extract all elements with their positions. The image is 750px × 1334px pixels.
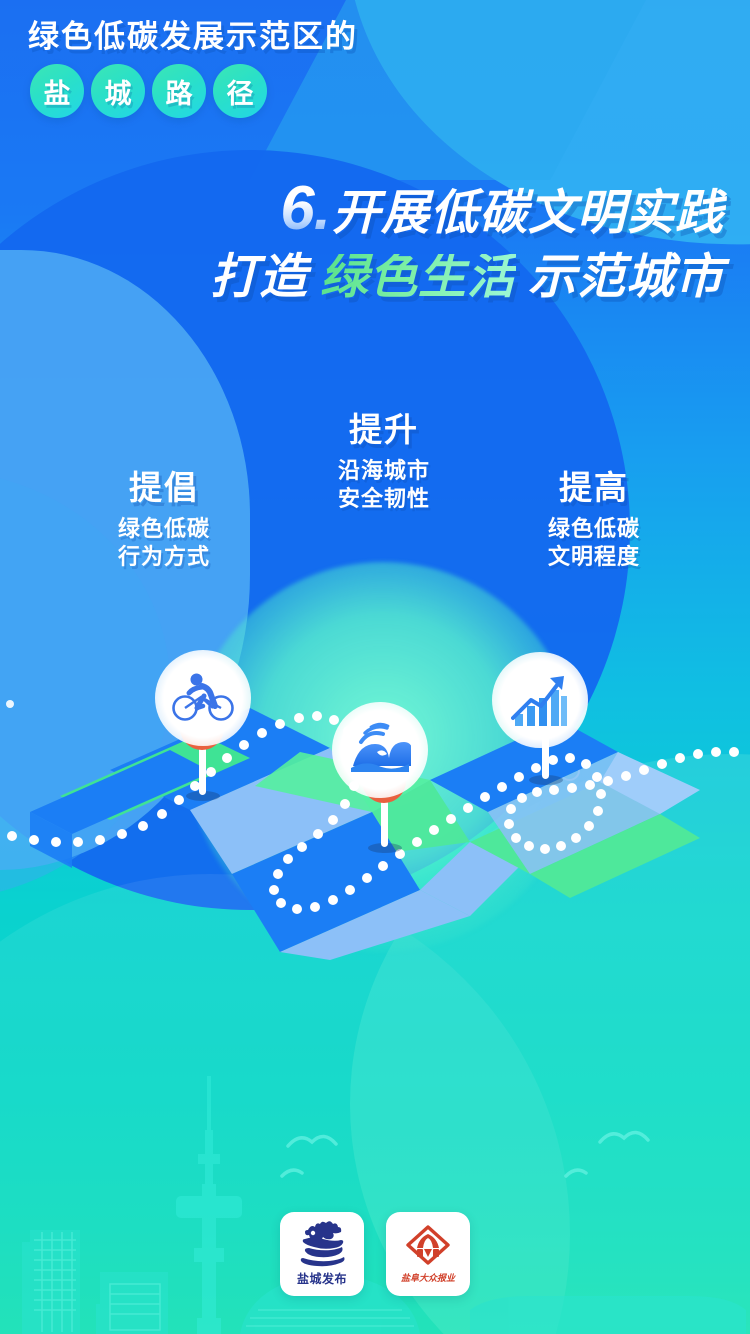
main-title-line-1: 开展低碳文明实践: [332, 190, 724, 238]
main-title-prefix: 打造: [210, 254, 308, 302]
section-number: 6.: [280, 178, 330, 240]
logo-row: 盐城发布 盐阜大众报业: [0, 1212, 750, 1296]
feature-head-center: 提升: [338, 412, 430, 448]
main-title-row-2: 打造 绿色生活 示范城市: [210, 254, 724, 302]
feature-sub-left-line2: 行为方式: [118, 543, 210, 571]
header-circle-char-3: 路: [152, 64, 206, 118]
bicycle-icon: [172, 672, 234, 724]
feature-sub-right-line1: 绿色低碳: [548, 515, 640, 543]
header-circle-char-2: 城: [91, 64, 145, 118]
growth-chart-icon-bubble: [492, 652, 588, 748]
diamond-emblem-icon: [403, 1224, 453, 1270]
header-circle-group: 盐 城 路 径: [30, 64, 358, 118]
feature-sub-center-line1: 沿海城市: [338, 457, 430, 485]
header-circle-char-1: 盐: [30, 64, 84, 118]
poster-header: 绿色低碳发展示范区的 盐 城 路 径: [28, 20, 358, 118]
feature-head-right: 提高: [548, 470, 640, 506]
header-subtitle: 绿色低碳发展示范区的: [28, 20, 358, 54]
logo-caption-yanfu-media: 盐阜大众报业: [401, 1271, 455, 1284]
feature-label-improve: 提高 绿色低碳 文明程度: [548, 470, 640, 572]
bird-icon-group: [282, 1132, 648, 1176]
feature-sub-left: 绿色低碳 行为方式: [118, 515, 210, 571]
feature-sub-center: 沿海城市 安全韧性: [338, 457, 430, 513]
feature-sub-left-line1: 绿色低碳: [118, 515, 210, 543]
main-title-highlight: 绿色生活: [320, 254, 516, 302]
logo-card-yancheng-fabu[interactable]: 盐城发布: [280, 1212, 364, 1296]
feature-sub-right: 绿色低碳 文明程度: [548, 515, 640, 571]
main-title-row-1: 6. 开展低碳文明实践: [210, 178, 724, 240]
feature-label-enhance: 提升 沿海城市 安全韧性: [338, 412, 430, 514]
main-title-block: 6. 开展低碳文明实践 打造 绿色生活 示范城市: [210, 178, 724, 302]
feature-head-left: 提倡: [118, 470, 210, 506]
growth-chart-icon: [511, 672, 569, 728]
header-circle-char-4: 径: [213, 64, 267, 118]
wave-icon-bubble: [332, 702, 428, 798]
deer-emblem-icon: [295, 1221, 349, 1269]
logo-card-yanfu-media[interactable]: 盐阜大众报业: [386, 1212, 470, 1296]
feature-label-advocate: 提倡 绿色低碳 行为方式: [118, 470, 210, 572]
bicycle-icon-bubble: [155, 650, 251, 746]
feature-sub-right-line2: 文明程度: [548, 543, 640, 571]
main-title-suffix: 示范城市: [528, 254, 724, 302]
feature-sub-center-line2: 安全韧性: [338, 485, 430, 513]
wave-icon: [349, 722, 411, 778]
logo-caption-yancheng-fabu: 盐城发布: [297, 1270, 347, 1287]
poster-root: 绿色低碳发展示范区的 盐 城 路 径 6. 开展低碳文明实践 打造 绿色生活 示…: [0, 0, 750, 1334]
